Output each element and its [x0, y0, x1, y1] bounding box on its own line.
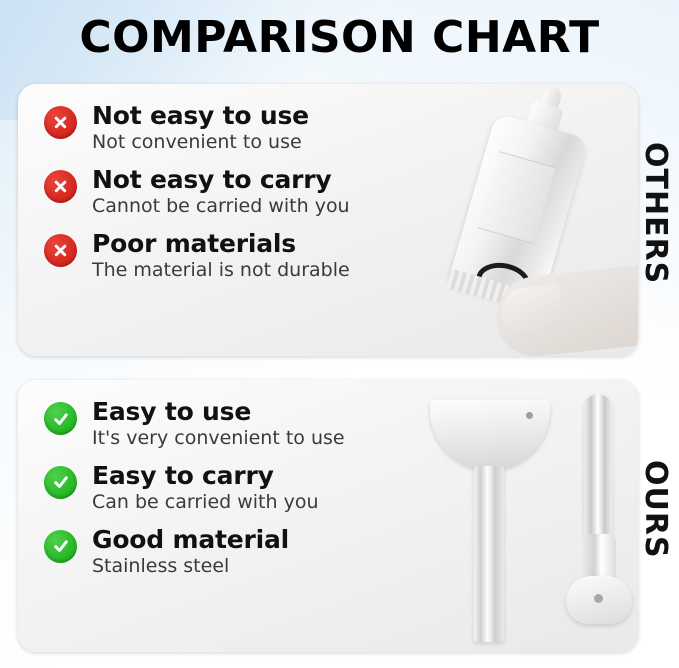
scraper-tool-graphic: [430, 400, 550, 640]
item-headline: Easy to use: [92, 398, 404, 426]
scraper-handle: [474, 466, 504, 642]
item-subtext: It's very convenient to use: [92, 427, 404, 450]
check-circle-icon: [44, 402, 77, 435]
second-tool-shaft: [584, 394, 612, 544]
item-headline: Poor materials: [92, 230, 404, 258]
item-headline: Not easy to use: [92, 102, 404, 130]
comparison-chart-page: COMPARISON CHART Not easy to use Not con…: [0, 0, 679, 668]
second-tool-head: [566, 576, 632, 624]
list-item: Good material Stainless steel: [44, 526, 404, 578]
list-item: Not easy to carry Cannot be carried with…: [44, 166, 404, 218]
x-circle-icon: [44, 234, 77, 267]
ours-card: Easy to use It's very convenient to use …: [18, 380, 638, 652]
x-circle-icon: [44, 170, 77, 203]
list-item: Poor materials The material is not durab…: [44, 230, 404, 282]
side-label-others: OTHERS: [638, 142, 673, 284]
item-subtext: Not convenient to use: [92, 131, 404, 154]
check-circle-icon: [44, 530, 77, 563]
others-rows: Not easy to use Not convenient to use No…: [44, 102, 404, 293]
page-title: COMPARISON CHART: [0, 16, 679, 60]
item-subtext: Can be carried with you: [92, 491, 404, 514]
list-item: Easy to use It's very convenient to use: [44, 398, 404, 450]
side-label-ours: OURS: [638, 460, 673, 559]
item-subtext: Cannot be carried with you: [92, 195, 404, 218]
second-tool-graphic: [564, 394, 634, 644]
list-item: Easy to carry Can be carried with you: [44, 462, 404, 514]
scraper-hang-hole: [526, 412, 533, 419]
check-circle-icon: [44, 466, 77, 499]
others-product-image: [378, 84, 638, 356]
item-headline: Good material: [92, 526, 404, 554]
item-subtext: Stainless steel: [92, 555, 404, 578]
item-headline: Easy to carry: [92, 462, 404, 490]
ours-rows: Easy to use It's very convenient to use …: [44, 398, 404, 589]
x-circle-icon: [44, 106, 77, 139]
others-card: Not easy to use Not convenient to use No…: [18, 84, 638, 356]
item-subtext: The material is not durable: [92, 259, 404, 282]
ours-product-image: [378, 380, 638, 652]
scraper-blade: [430, 400, 550, 470]
list-item: Not easy to use Not convenient to use: [44, 102, 404, 154]
item-headline: Not easy to carry: [92, 166, 404, 194]
